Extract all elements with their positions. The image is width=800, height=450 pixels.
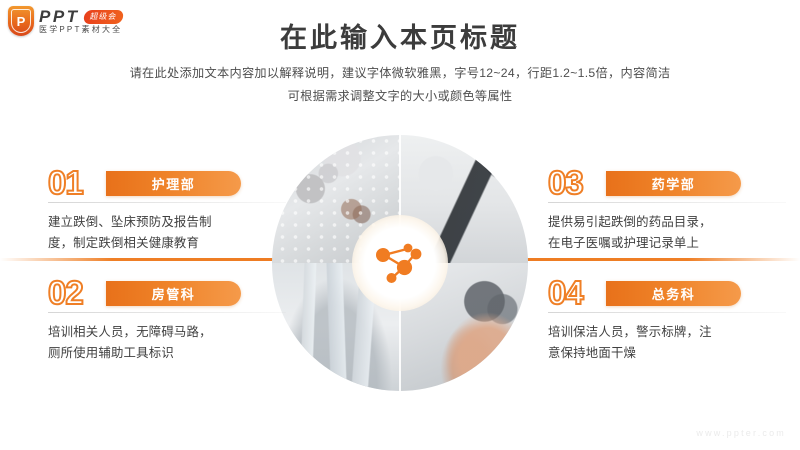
item-body-line-1: 培训保洁人员，警示标牌，注	[548, 322, 800, 343]
item-divider	[48, 202, 286, 203]
item-divider	[48, 312, 286, 313]
item-body-line-2: 度，制定跌倒相关健康教育	[48, 233, 300, 254]
item-body-line-2: 厕所使用辅助工具标识	[48, 343, 300, 364]
item-label-pill[interactable]: 房管科	[106, 281, 241, 306]
item-label-pill[interactable]: 护理部	[106, 171, 241, 196]
item-block-03[interactable]: 03 药学部 提供易引起跌倒的药品目录， 在电子医嘱或护理记录单上	[548, 168, 800, 255]
item-divider	[548, 312, 786, 313]
subtitle-line-2: 可根据需求调整文字的大小或颜色等属性	[0, 85, 800, 108]
item-header: 03 药学部	[548, 168, 800, 204]
item-number: 01	[48, 166, 83, 199]
item-block-01[interactable]: 01 护理部 建立跌倒、坠床预防及报告制 度，制定跌倒相关健康教育	[48, 168, 300, 255]
item-body-line-1: 提供易引起跌倒的药品目录，	[548, 212, 800, 233]
item-body: 培训相关人员，无障碍马路， 厕所使用辅助工具标识	[48, 322, 300, 365]
item-header: 02 房管科	[48, 278, 300, 314]
shield-letter: P	[17, 15, 26, 28]
item-number: 04	[548, 276, 583, 309]
item-divider	[548, 202, 786, 203]
item-number: 03	[548, 166, 583, 199]
item-body-line-1: 培训相关人员，无障碍马路，	[48, 322, 300, 343]
page-subtitle: 请在此处添加文本内容加以解释说明，建议字体微软雅黑，字号12~24，行距1.2~…	[0, 62, 800, 107]
item-header: 01 护理部	[48, 168, 300, 204]
item-body: 建立跌倒、坠床预防及报告制 度，制定跌倒相关健康教育	[48, 212, 300, 255]
item-header: 04 总务科	[548, 278, 800, 314]
center-photo-circle	[272, 135, 528, 391]
item-body-line-1: 建立跌倒、坠床预防及报告制	[48, 212, 300, 233]
item-block-02[interactable]: 02 房管科 培训相关人员，无障碍马路， 厕所使用辅助工具标识	[48, 278, 300, 365]
subtitle-line-1: 请在此处添加文本内容加以解释说明，建议字体微软雅黑，字号12~24，行距1.2~…	[0, 62, 800, 85]
watermark: www.ppter.com	[696, 428, 786, 438]
item-block-04[interactable]: 04 总务科 培训保洁人员，警示标牌，注 意保持地面干燥	[548, 278, 800, 365]
molecule-network-icon	[371, 234, 429, 292]
item-body: 培训保洁人员，警示标牌，注 意保持地面干燥	[548, 322, 800, 365]
slide-canvas: P PPT 超级会 医学PPT素材大全 在此输入本页标题 请在此处添加文本内容加…	[0, 0, 800, 450]
item-label-pill[interactable]: 药学部	[606, 171, 741, 196]
item-body-line-2: 在电子医嘱或护理记录单上	[548, 233, 800, 254]
item-body-line-2: 意保持地面干燥	[548, 343, 800, 364]
item-number: 02	[48, 276, 83, 309]
item-body: 提供易引起跌倒的药品目录， 在电子医嘱或护理记录单上	[548, 212, 800, 255]
page-title: 在此输入本页标题	[0, 16, 800, 55]
item-label-pill[interactable]: 总务科	[606, 281, 741, 306]
